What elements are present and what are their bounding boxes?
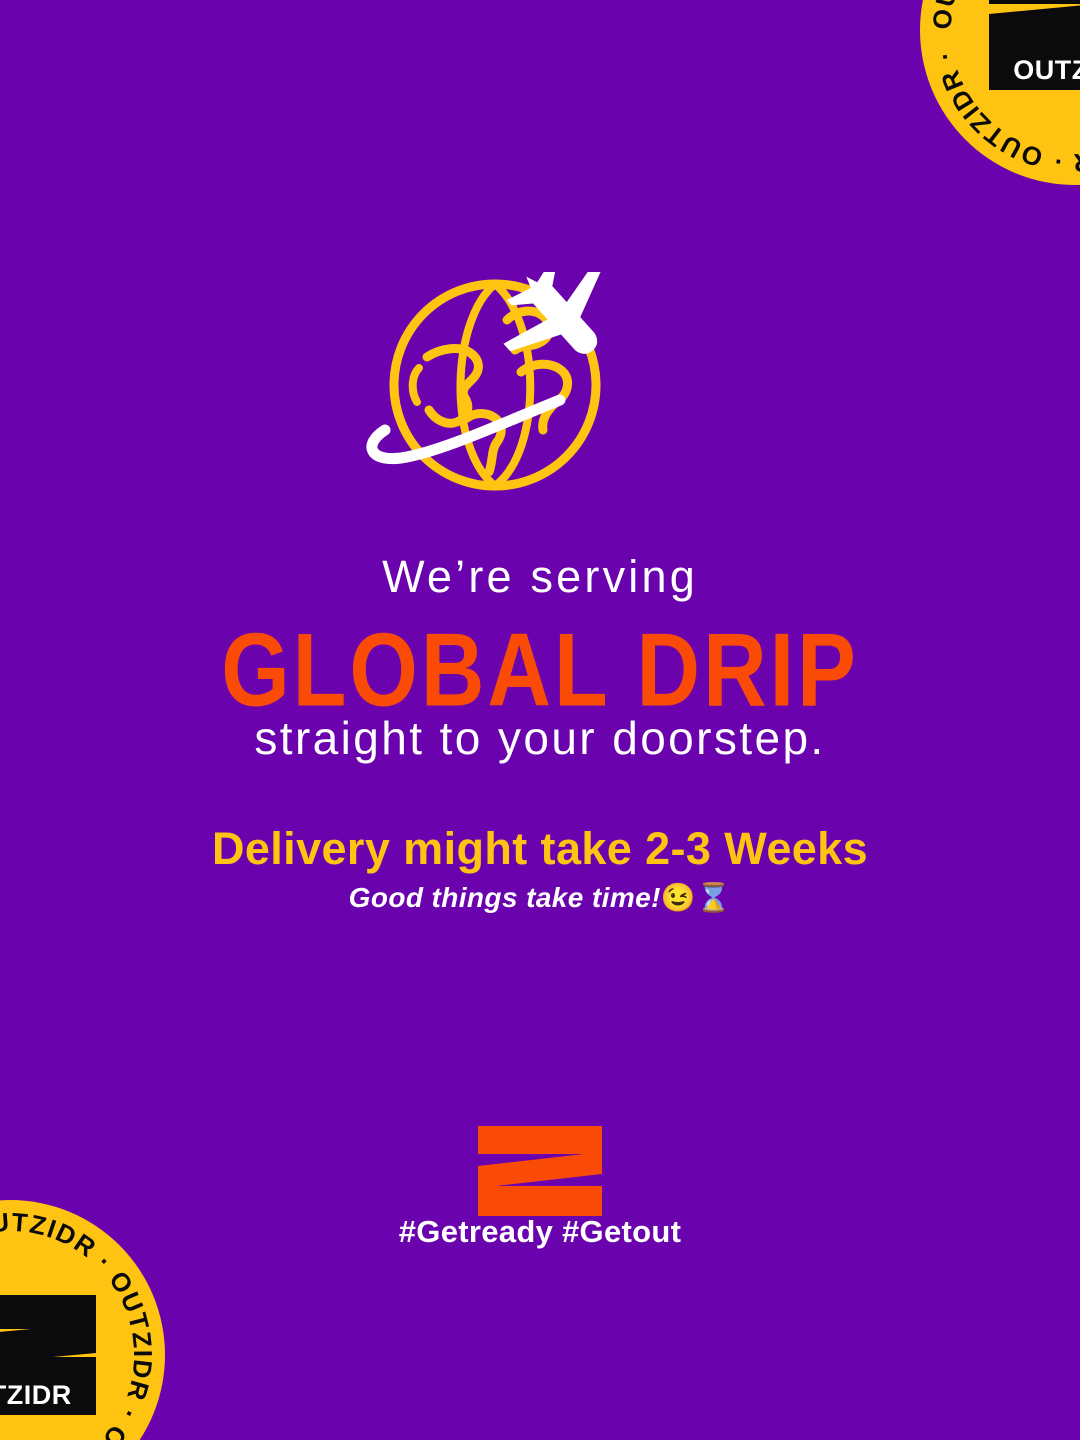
logo-bar-top <box>478 1126 602 1154</box>
globe-airplane-icon <box>355 272 725 517</box>
tagline-emoji: 😉⌛ <box>661 882 732 913</box>
badge-wordmark: OUTZIDR <box>989 52 1080 90</box>
badge-center-logo-bottom-left: OUTZIDR <box>0 1295 96 1415</box>
tagline-row: Good things take time!😉⌛ <box>0 880 1080 916</box>
delivery-notice-text: Delivery might take 2-3 Weeks <box>0 822 1080 876</box>
badge-wordmark: OUTZIDR <box>0 1377 96 1415</box>
poster-canvas: OUTZIDR · OUTZIDR · OUTZIDR · OUTZIDR · … <box>0 0 1080 1440</box>
outzidr-badge-top-right: OUTZIDR · OUTZIDR · OUTZIDR · OUTZIDR · … <box>920 0 1080 185</box>
tagline-text: Good things take time! <box>349 882 661 913</box>
outzidr-badge-bottom-left: OUTZIDR · OUTZIDR · OUTZIDR · OUTZIDR · … <box>0 1200 165 1440</box>
subhead-text: straight to your doorstep. <box>0 712 1080 765</box>
badge-center-logo-top-right: OUTZIDR <box>989 0 1080 90</box>
logo-diagonal <box>478 1152 602 1188</box>
logo-bar-bottom <box>478 1186 602 1216</box>
eyebrow-text: We’re serving <box>0 552 1080 602</box>
globe-continent-edge <box>413 368 419 402</box>
outzidr-z-logo <box>478 1126 602 1216</box>
